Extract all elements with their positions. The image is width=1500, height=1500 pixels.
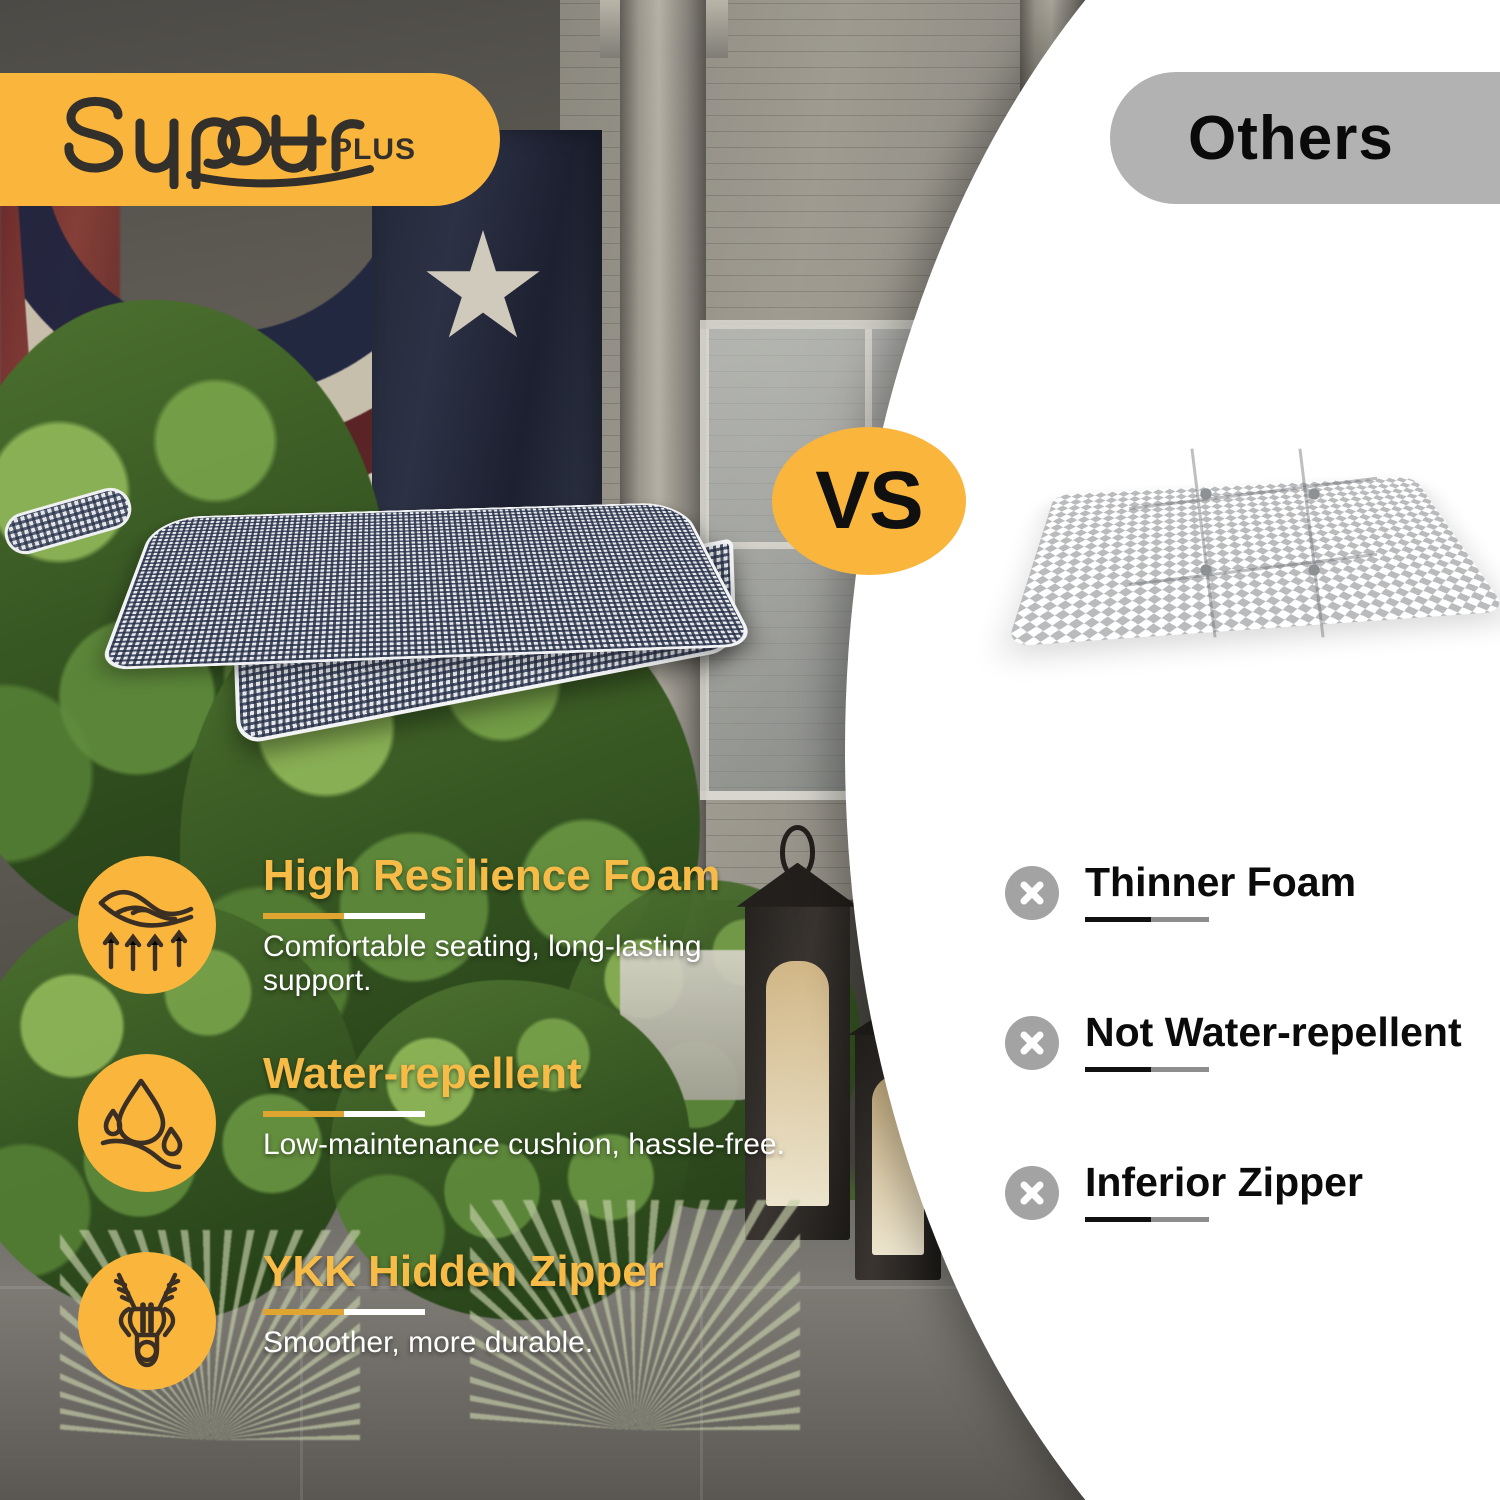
con-divider (1085, 917, 1209, 922)
product-feature-list: High Resilience Foam Comfortable seating… (78, 852, 808, 1446)
feature-subtitle: Smoother, more durable. (263, 1326, 808, 1361)
x-mark-icon (1015, 1026, 1049, 1060)
con-title: Not Water-repellent (1085, 1010, 1500, 1054)
con-item: Not Water-repellent (1005, 1010, 1500, 1160)
cushion-top-surface (98, 502, 757, 670)
feature-text-block: Water-repellent Low-maintenance cushion,… (263, 1050, 808, 1162)
zipper-icon (95, 1269, 199, 1373)
feature-subtitle: Low-maintenance cushion, hassle-free. (263, 1128, 808, 1163)
feature-title: High Resilience Foam (263, 852, 808, 900)
feature-text-block: High Resilience Foam Comfortable seating… (263, 852, 808, 999)
competitor-cushion-image (1010, 400, 1490, 700)
con-item: Thinner Foam (1005, 860, 1500, 1010)
feature-icon-badge (78, 856, 216, 994)
feature-item: YKK Hidden Zipper Smoother, more durable… (78, 1248, 808, 1446)
con-text-block: Not Water-repellent (1085, 1010, 1500, 1072)
feature-text-block: YKK Hidden Zipper Smoother, more durable… (263, 1248, 808, 1360)
others-header-pill: Others (1110, 72, 1500, 204)
cushion-tuft (1196, 560, 1216, 580)
con-text-block: Thinner Foam (1085, 860, 1500, 922)
others-label: Others (1188, 103, 1394, 174)
x-circle-icon (1005, 1166, 1059, 1220)
brand-logo-pill: PLUS (0, 73, 500, 206)
x-circle-icon (1005, 1016, 1059, 1070)
water-droplet-icon (95, 1071, 199, 1175)
feature-icon-badge (78, 1252, 216, 1390)
competitor-cushion-pad (1007, 477, 1500, 647)
feature-divider (263, 1111, 425, 1117)
vs-badge: VS (772, 427, 966, 575)
feature-icon-badge (78, 1054, 216, 1192)
product-cushion-image (85, 390, 785, 735)
infographic-stage: PLUS Others VS (0, 0, 1500, 1500)
con-item: Inferior Zipper (1005, 1160, 1500, 1310)
con-text-block: Inferior Zipper (1085, 1160, 1500, 1222)
feature-title: YKK Hidden Zipper (263, 1248, 808, 1296)
x-mark-icon (1015, 876, 1049, 910)
brand-logo-plus: PLUS (332, 133, 416, 167)
vs-label: VS (815, 454, 922, 548)
con-title: Thinner Foam (1085, 860, 1500, 904)
x-circle-icon (1005, 866, 1059, 920)
feature-divider (263, 913, 425, 919)
competitor-con-list: Thinner Foam Not Water-repellent (1005, 860, 1500, 1310)
con-divider (1085, 1067, 1209, 1072)
flag-star (424, 230, 542, 348)
feature-item: High Resilience Foam Comfortable seating… (78, 852, 808, 1050)
cushion-tuft (1304, 560, 1324, 580)
feature-subtitle: Comfortable seating, long-lasting suppor… (263, 930, 808, 999)
feature-divider (263, 1309, 425, 1315)
foam-support-icon (95, 873, 199, 977)
cushion-tuft (1304, 484, 1324, 504)
x-mark-icon (1015, 1176, 1049, 1210)
con-title: Inferior Zipper (1085, 1160, 1500, 1204)
cushion-tuft (1196, 484, 1216, 504)
feature-item: Water-repellent Low-maintenance cushion,… (78, 1050, 808, 1248)
feature-title: Water-repellent (263, 1050, 808, 1098)
con-divider (1085, 1217, 1209, 1222)
